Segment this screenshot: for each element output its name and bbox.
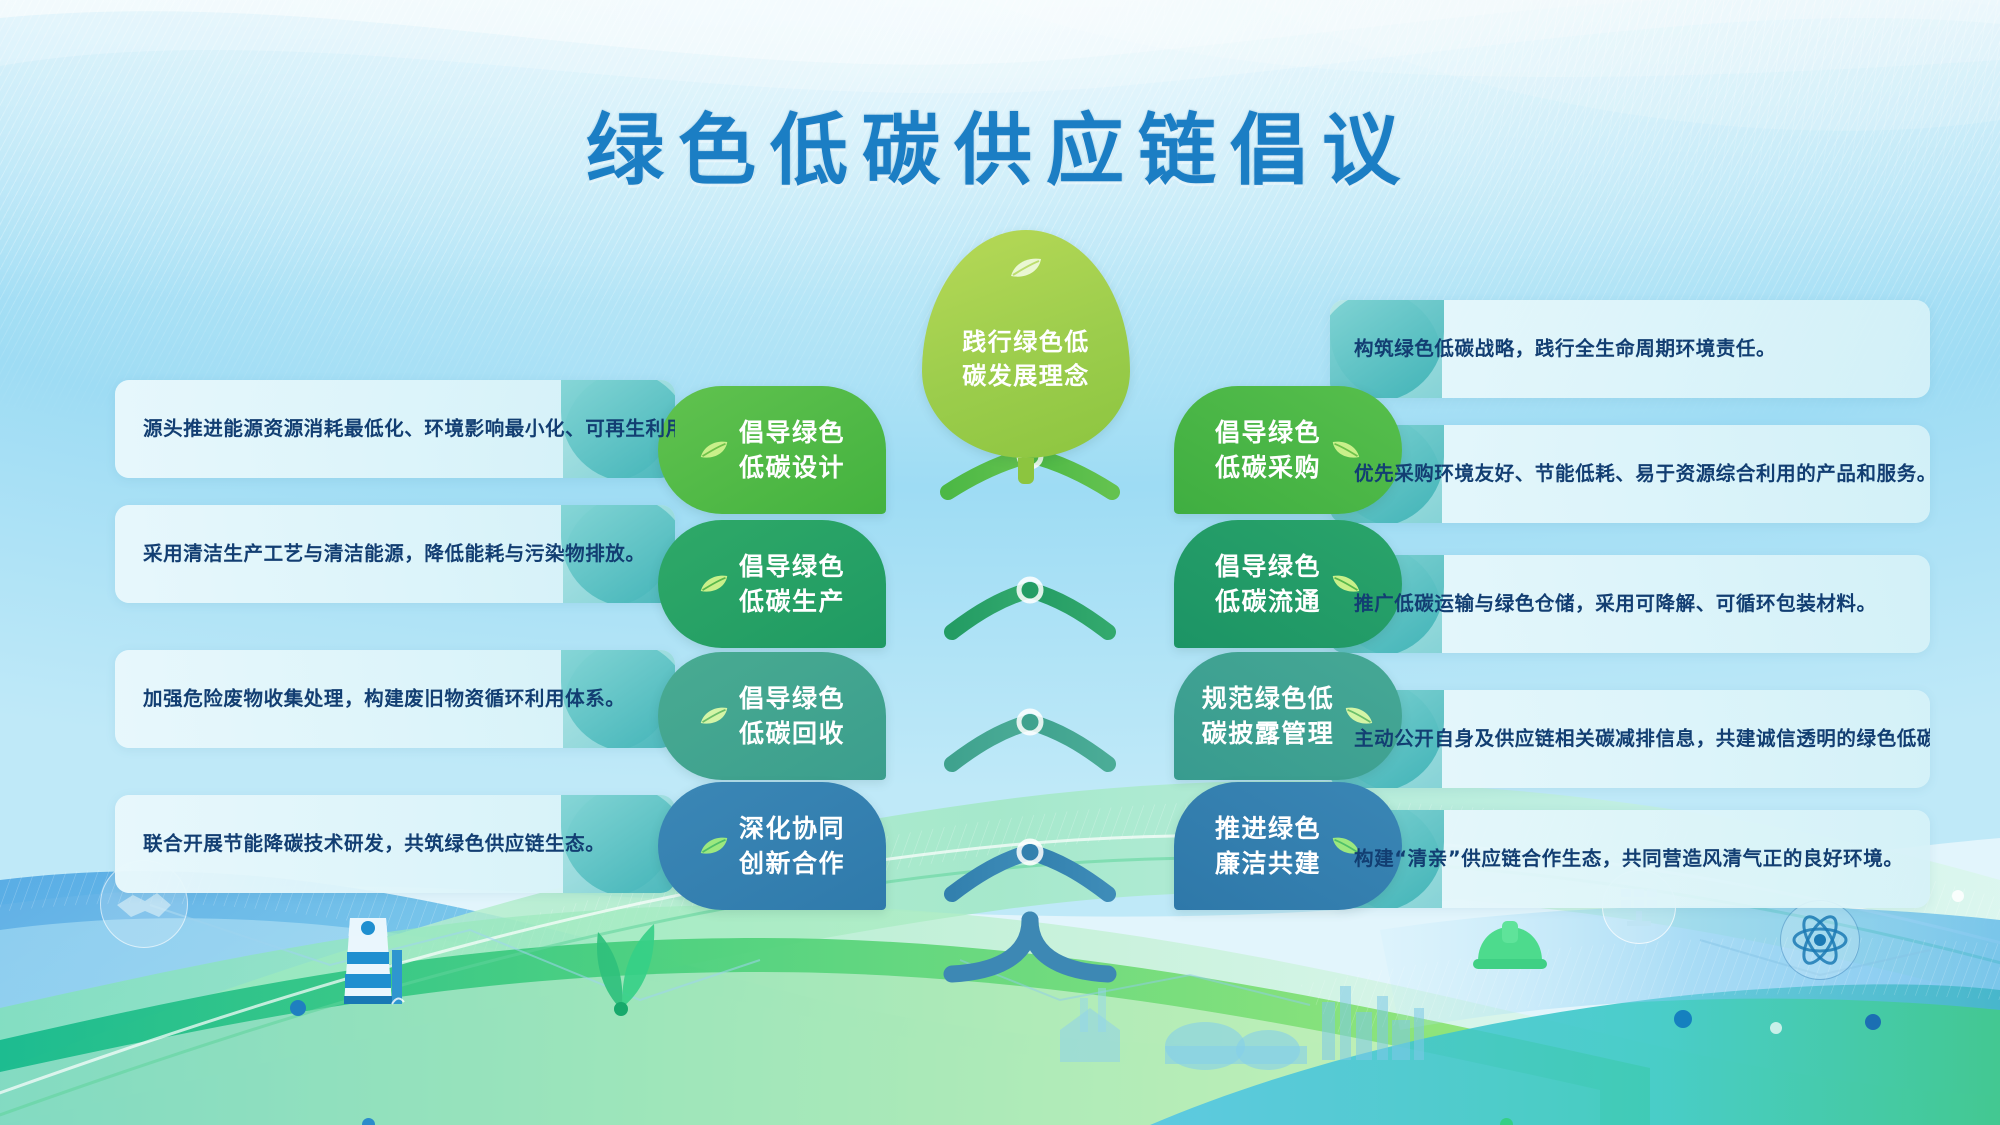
right-panel-1: 构筑绿色低碳战略，践行全生命周期环境责任。 [1330,300,1930,398]
tree-leaf-left-3-line1: 倡导绿色 [739,681,845,717]
tree-leaf-left-1-line1: 倡导绿色 [739,415,845,451]
accent-dot [1865,1014,1881,1030]
right-panel-5: 构建“清亲”供应链合作生态，共同营造风清气正的良好环境。 [1330,810,1930,908]
tree-leaf-left-3-line2: 低碳回收 [739,716,845,752]
tree-leaf-left-4[interactable]: 深化协同 创新合作 [658,782,886,910]
tree-leaf-left-2-line1: 倡导绿色 [739,549,845,585]
accent-dot [1674,1010,1692,1028]
tree-leaf-right-3[interactable]: 规范绿色低 碳披露管理 [1174,652,1402,780]
tree-leaf-left-4-line2: 创新合作 [739,846,845,882]
tree-leaf-right-2-line1: 倡导绿色 [1215,549,1321,585]
leaf-icon [699,439,729,461]
left-panel-2: 采用清洁生产工艺与清洁能源，降低能耗与污染物排放。 [115,505,675,603]
right-panel-3: 推广低碳运输与绿色仓储，采用可降解、可循环包装材料。 [1330,555,1930,653]
tree-leaf-left-3[interactable]: 倡导绿色 低碳回收 [658,652,886,780]
leaf-icon [699,835,729,857]
tree-leaf-left-1-line2: 低碳设计 [739,450,845,486]
right-panel-4: 主动公开自身及供应链相关碳减排信息，共建诚信透明的绿色低碳生态。 [1330,690,1930,788]
leaf-icon [1009,256,1043,280]
left-panel-3-text: 加强危险废物收集处理，构建废旧物资循环利用体系。 [143,685,625,712]
left-panel-1-text: 源头推进能源资源消耗最低化、环境影响最小化、可再生利用最大化。 [143,415,675,442]
tree-leaf-left-2-line2: 低碳生产 [739,584,845,620]
accent-dot [290,1000,306,1016]
leaf-icon [699,573,729,595]
left-panel-2-text: 采用清洁生产工艺与清洁能源，降低能耗与污染物排放。 [143,540,646,567]
atom-icon [1780,900,1860,980]
page-title-text: 绿色低碳供应链倡议 [586,88,1414,200]
tree-leaf-right-1[interactable]: 倡导绿色 低碳采购 [1174,386,1402,514]
left-panel-3: 加强危险废物收集处理，构建废旧物资循环利用体系。 [115,650,675,748]
right-panel-4-text: 主动公开自身及供应链相关碳减排信息，共建诚信透明的绿色低碳生态。 [1354,725,1930,752]
tree-leaf-right-4-line1: 推进绿色 [1215,811,1321,847]
left-panel-4-text: 联合开展节能降碳技术研发，共筑绿色供应链生态。 [143,830,605,857]
accent-dot [1952,890,1964,902]
leaf-icon [1344,705,1374,727]
tree-top-leaf-line2: 碳发展理念 [962,359,1090,393]
tree-leaf-right-2[interactable]: 倡导绿色 低碳流通 [1174,520,1402,648]
right-panel-2: 优先采购环境友好、节能低耗、易于资源综合利用的产品和服务。 [1330,425,1930,523]
tree-diagram: 践行绿色低 碳发展理念 倡导绿色 低碳设计 [690,230,1370,950]
tree-leaf-right-4-line2: 廉洁共建 [1215,846,1321,882]
tree-leaf-right-1-line1: 倡导绿色 [1215,415,1321,451]
right-panel-5-text: 构建“清亲”供应链合作生态，共同营造风清气正的良好环境。 [1354,845,1903,872]
tree-leaf-right-1-line2: 低碳采购 [1215,450,1321,486]
page-title: 绿色低碳供应链倡议 [0,88,2000,200]
tree-top-leaf-line1: 践行绿色低 [962,325,1090,359]
leaf-icon [699,705,729,727]
infographic-poster: 绿色低碳供应链倡议 源头推进能源资源消耗最低化、环境影响最小化、可再生利用最大化… [0,0,2000,1125]
accent-dot [1770,1022,1782,1034]
accent-dot [362,1118,375,1125]
tree-leaf-right-3-line1: 规范绿色低 [1202,681,1335,717]
tree-leaf-left-2[interactable]: 倡导绿色 低碳生产 [658,520,886,648]
right-panel-2-text: 优先采购环境友好、节能低耗、易于资源综合利用的产品和服务。 [1354,460,1930,487]
left-panel-1: 源头推进能源资源消耗最低化、环境影响最小化、可再生利用最大化。 [115,380,675,478]
leaf-icon [1331,439,1361,461]
accent-dot [1500,1118,1513,1125]
tree-leaf-left-4-line1: 深化协同 [739,811,845,847]
tree-leaf-right-3-line2: 碳披露管理 [1202,716,1335,752]
right-panel-1-text: 构筑绿色低碳战略，践行全生命周期环境责任。 [1354,335,1776,362]
right-panel-3-text: 推广低碳运输与绿色仓储，采用可降解、可循环包装材料。 [1354,590,1877,617]
left-panel-4: 联合开展节能降碳技术研发，共筑绿色供应链生态。 [115,795,675,893]
tree-leaf-left-1[interactable]: 倡导绿色 低碳设计 [658,386,886,514]
tree-leaf-right-2-line2: 低碳流通 [1215,584,1321,620]
